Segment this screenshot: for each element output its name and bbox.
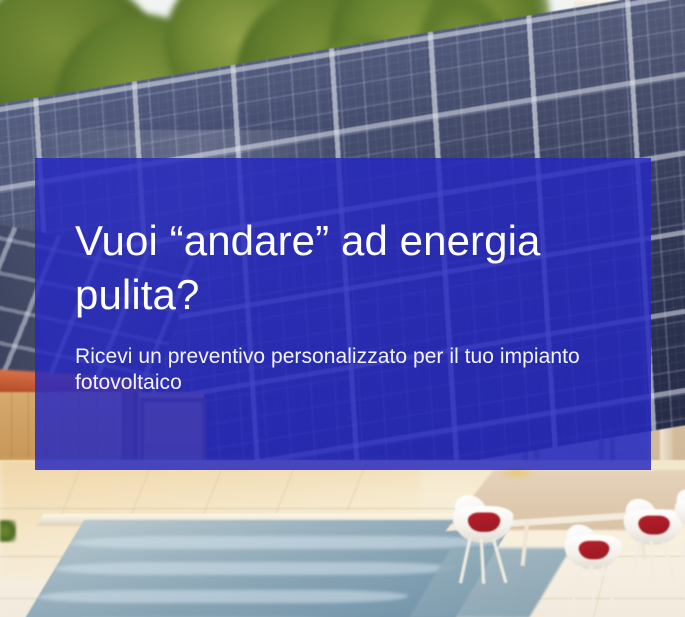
chair-cushion [638, 516, 670, 535]
pool-step [51, 562, 459, 575]
plant-sprig [0, 520, 16, 542]
patio-chair [453, 495, 513, 545]
patio-chair [564, 525, 621, 572]
patio-chair [624, 499, 683, 547]
chair-seat [675, 498, 685, 529]
chair-legs [573, 565, 614, 608]
hero-text-block: Vuoi “andare” ad energia pulita? Ricevi … [75, 214, 611, 396]
pool-step [34, 590, 412, 603]
hero-subheading: Ricevi un preventivo personalizzato per … [75, 322, 611, 396]
hero-heading: Vuoi “andare” ad energia pulita? [75, 214, 611, 322]
chair-cushion [579, 541, 610, 559]
chair-legs [632, 541, 674, 585]
chair-legs [461, 538, 504, 583]
hero-banner: Vuoi “andare” ad energia pulita? Ricevi … [0, 0, 685, 617]
pool-step [67, 536, 505, 549]
chair-cushion [468, 512, 500, 531]
hero-overlay-card: Vuoi “andare” ad energia pulita? Ricevi … [35, 158, 651, 470]
patio-chair [675, 489, 685, 530]
